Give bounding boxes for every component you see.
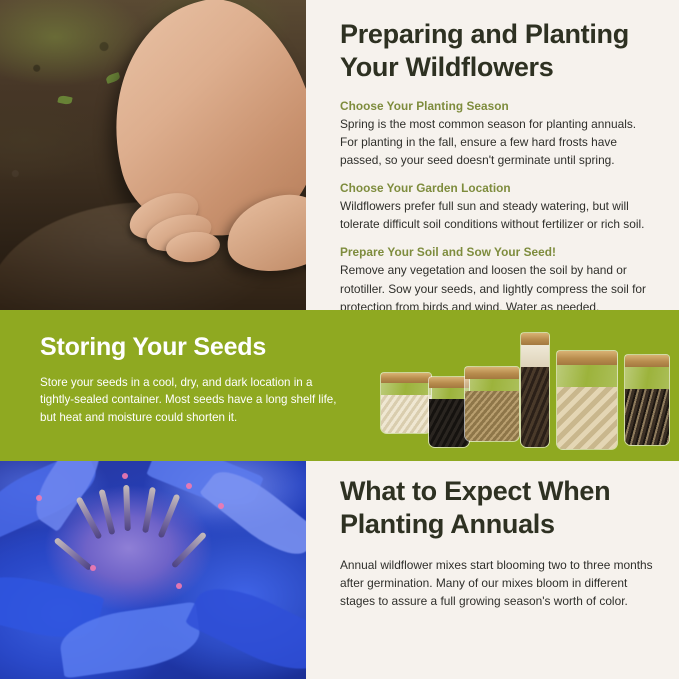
section-storing-your-seeds: Storing Your Seeds Store your seeds in a… <box>0 310 679 461</box>
pink-accent <box>186 483 192 489</box>
section-what-to-expect: What to Expect When Planting Annuals Ann… <box>0 461 679 679</box>
jar-contents <box>521 367 549 447</box>
body-garden-location: Wildflowers prefer full sun and steady w… <box>340 197 657 233</box>
cork-lid <box>556 351 618 365</box>
cork-lid <box>464 367 520 379</box>
seed-storage-jars-photo <box>380 324 670 452</box>
pink-accent <box>36 495 42 501</box>
flat-seed-jar <box>556 350 618 450</box>
body-planting-season: Spring is the most common season for pla… <box>340 115 657 169</box>
cork-lid <box>520 333 550 345</box>
cork-lid <box>380 373 432 383</box>
storing-seeds-title: Storing Your Seeds <box>40 334 340 362</box>
subheading-prepare-soil: Prepare Your Soil and Sow Your Seed! <box>340 245 657 259</box>
jar-contents <box>381 395 431 433</box>
subheading-planting-season: Choose Your Planting Season <box>340 99 657 113</box>
subheading-garden-location: Choose Your Garden Location <box>340 181 657 195</box>
infographic-page: Preparing and Planting Your Wildflowers … <box>0 0 679 679</box>
jar-linen-band <box>521 345 549 367</box>
striped-seed-jar <box>624 354 670 446</box>
page-title: Preparing and Planting Your Wildflowers <box>340 18 657 85</box>
jar-contents <box>465 391 519 441</box>
section-three-text-column: What to Expect When Planting Annuals Ann… <box>326 461 679 610</box>
jar-contents <box>625 389 669 445</box>
storing-seeds-body: Store your seeds in a cool, dry, and dar… <box>40 374 340 428</box>
brown-grain-jar <box>464 366 520 442</box>
section-one-text-column: Preparing and Planting Your Wildflowers … <box>326 0 679 316</box>
pink-accent <box>90 565 96 571</box>
jar-contents <box>557 387 617 449</box>
what-to-expect-body: Annual wildflower mixes start blooming t… <box>340 556 657 610</box>
white-bean-jar <box>380 372 432 434</box>
jar-contents <box>429 399 469 447</box>
pink-accent <box>122 473 128 479</box>
section-green-text-column: Storing Your Seeds Store your seeds in a… <box>40 334 340 427</box>
body-prepare-soil: Remove any vegetation and loosen the soi… <box>340 261 657 315</box>
tall-dark-seed-vial <box>520 332 550 448</box>
pink-accent <box>218 503 224 509</box>
section-preparing-and-planting: Preparing and Planting Your Wildflowers … <box>0 0 679 310</box>
what-to-expect-title: What to Expect When Planting Annuals <box>340 475 657 542</box>
blue-cornflower-photo <box>0 461 306 679</box>
pink-accent <box>176 583 182 589</box>
hand-sowing-seeds-in-soil-photo <box>0 0 306 310</box>
cork-lid <box>624 355 670 367</box>
